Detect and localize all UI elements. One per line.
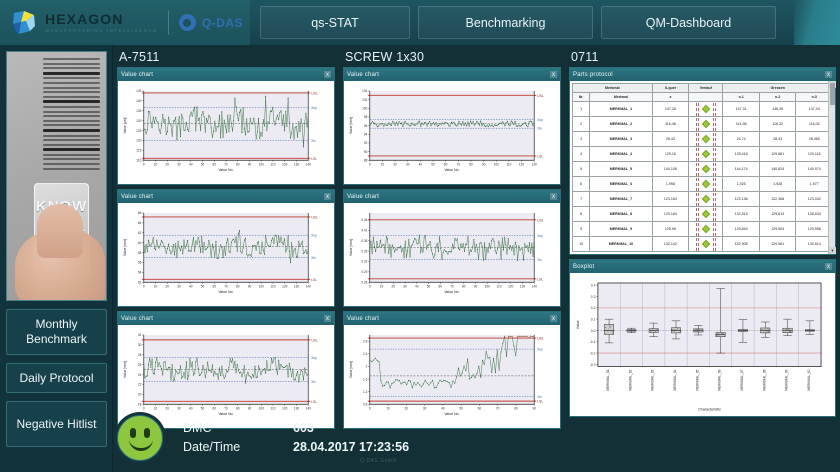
table-row[interactable]: 9MERKMAL_9129,96129,844129,904129,556 (573, 222, 833, 237)
smiley-face-icon (117, 415, 163, 461)
svg-text:0: 0 (369, 284, 371, 288)
svg-text:Value [mm]: Value [mm] (349, 117, 353, 134)
svg-text:0.29: 0.29 (361, 270, 367, 274)
panel-parts-protocol: Parts protocol x Merkmal X-quer Verlauf … (569, 67, 836, 255)
cell-no: 6 (573, 177, 590, 192)
column-screw: SCREW 1x30 Value chart x USLLSLXupXlo889… (339, 45, 565, 433)
svg-text:60: 60 (212, 162, 216, 166)
brand-area: HEXAGON MANUFACTURING INTELLIGENCE Q-DAS (0, 0, 250, 45)
hexagon-logo-icon (12, 10, 38, 36)
svg-text:Xup: Xup (537, 234, 543, 238)
svg-text:30: 30 (138, 343, 142, 347)
svg-text:-0.1: -0.1 (590, 340, 596, 344)
cell-n2: 129,581 (759, 237, 796, 252)
cell-no: 8 (573, 207, 590, 222)
svg-text:70: 70 (224, 162, 228, 166)
status-ok-icon (702, 195, 710, 203)
svg-text:0.3: 0.3 (591, 295, 596, 299)
cell-merkmal: MERKMAL_6 (590, 177, 652, 192)
smiley-eye-left (130, 428, 136, 438)
svg-text:-0.2: -0.2 (590, 351, 596, 355)
panel-title: Value chart (121, 316, 153, 322)
svg-text:MERKMAL_09: MERKMAL_09 (785, 369, 789, 390)
cell-n1: 24,74 (723, 132, 760, 147)
column-title-screw: SCREW 1x30 (339, 45, 565, 67)
brand-divider (168, 11, 169, 35)
svg-text:Xlo: Xlo (537, 127, 542, 131)
value-chart-screw-1[interactable]: USLLSLXupXlo8890929496981001021040102030… (346, 83, 558, 182)
svg-text:20: 20 (166, 284, 170, 288)
tab-qs-stat[interactable]: qs-STAT (260, 6, 410, 39)
cell-merkmal: MERKMAL_2 (590, 117, 652, 132)
panel-title: Value chart (347, 194, 379, 200)
svg-text:Xlo: Xlo (311, 256, 316, 260)
svg-text:54: 54 (138, 271, 142, 275)
panel-body: USLLSLXupXlo0.260.290.320.350.380.410.44… (344, 203, 560, 306)
cell-mean: 144,108 (652, 162, 689, 177)
svg-text:0.4: 0.4 (591, 284, 596, 288)
svg-text:MERKMAL_05: MERKMAL_05 (695, 369, 699, 390)
svg-text:40: 40 (189, 162, 193, 166)
dmc-label: DMC (183, 419, 293, 438)
cell-n2: 140,824 (759, 162, 796, 177)
sidebar-button-daily-protocol[interactable]: Daily Protocol (6, 363, 107, 393)
svg-text:110: 110 (270, 284, 275, 288)
svg-text:90: 90 (474, 284, 478, 288)
svg-text:50: 50 (431, 162, 435, 166)
cell-mean: 132,142 (652, 237, 689, 252)
svg-text:Xup: Xup (537, 348, 543, 352)
table-row[interactable]: 1MERKMAL_1147,26147,31146,35147,04 (573, 102, 833, 117)
svg-text:120: 120 (508, 284, 514, 288)
cell-mean: 1,998 (652, 177, 689, 192)
cell-merkmal: MERKMAL_5 (590, 162, 652, 177)
cell-mean: 28,43 (652, 132, 689, 147)
close-icon[interactable]: x (550, 193, 557, 200)
svg-text:125: 125 (136, 129, 142, 133)
svg-text:Xlo: Xlo (311, 380, 316, 384)
cell-verlauf (689, 102, 723, 117)
svg-text:88: 88 (364, 159, 368, 163)
svg-text:20: 20 (138, 393, 142, 397)
panel-title: Value chart (121, 194, 153, 200)
svg-text:60: 60 (444, 162, 448, 166)
brand-wordmark: HEXAGON MANUFACTURING INTELLIGENCE (45, 12, 158, 33)
col-n1: n-1 (723, 93, 760, 102)
svg-text:100: 100 (259, 284, 265, 288)
panel-body: USLLSLXupXlo1101151201251301351401450102… (118, 81, 334, 184)
svg-text:Xlo: Xlo (537, 258, 542, 262)
qdas-circle-icon (179, 14, 196, 31)
cell-verlauf (689, 207, 723, 222)
cell-n1: 1,925 (723, 177, 760, 192)
svg-text:0: 0 (143, 162, 145, 166)
table-sub-header-row: Nr. Merkmal x n-1 n-2 n-3 (573, 93, 833, 102)
svg-text:Value No.: Value No. (444, 290, 459, 294)
svg-text:96: 96 (364, 124, 368, 128)
smiley-mouth (129, 438, 153, 451)
svg-text:66: 66 (138, 211, 142, 215)
table-row[interactable]: 2MERKMAL_2116,48114,98116,32116,04 (573, 117, 833, 132)
svg-text:2: 2 (366, 365, 368, 369)
svg-text:80: 80 (236, 162, 240, 166)
svg-text:0.44: 0.44 (361, 218, 367, 222)
svg-text:102: 102 (362, 98, 368, 102)
group-header-verlauf: Verlauf (689, 84, 723, 93)
svg-text:MERKMAL_08: MERKMAL_08 (762, 369, 766, 390)
close-icon[interactable]: x (825, 263, 832, 270)
cell-n2: 122,368 (759, 192, 796, 207)
col-no: Nr. (573, 93, 590, 102)
svg-text:20: 20 (393, 162, 397, 166)
svg-text:130: 130 (532, 162, 538, 166)
group-header-xquer: X-quer (652, 84, 689, 93)
svg-text:120: 120 (282, 162, 288, 166)
svg-text:120: 120 (282, 284, 288, 288)
sidebar-button-negative-hitlist[interactable]: Negative Hitlist (6, 401, 107, 447)
table-head: Merkmal X-quer Verlauf Grenzen Nr. Merkm… (573, 84, 833, 102)
svg-text:Value No.: Value No. (218, 168, 233, 172)
svg-text:60: 60 (138, 241, 142, 245)
svg-text:MERKMAL_07: MERKMAL_07 (740, 369, 744, 390)
svg-text:32: 32 (138, 333, 142, 337)
status-bar: DMC 603 Date/Time 28.04.2017 17:23:56 (117, 410, 557, 466)
svg-text:40: 40 (419, 162, 423, 166)
svg-text:LSL: LSL (311, 278, 317, 282)
table-row[interactable]: 7MERKMAL_7123,184123,136122,368123,042 (573, 192, 833, 207)
cell-no: 1 (573, 102, 590, 117)
panel-value-chart-2: Value chart x USLLSLXupXlo52545658606264… (117, 189, 335, 307)
cell-n2: 28,43 (759, 132, 796, 147)
svg-text:USL: USL (311, 216, 318, 220)
status-ok-icon (702, 150, 710, 158)
svg-text:10: 10 (380, 284, 384, 288)
cell-mean: 147,26 (652, 102, 689, 117)
svg-text:Value [mm]: Value [mm] (349, 361, 353, 378)
cell-n1: 128,418 (723, 147, 760, 162)
panel-header: Value chart x (118, 312, 334, 325)
column-title-0711: 0711 (565, 45, 840, 67)
table-row[interactable]: 4MERKMAL_4129,16128,418129,881129,116 (573, 147, 833, 162)
cell-verlauf (689, 192, 723, 207)
svg-text:LSL: LSL (537, 155, 543, 159)
svg-text:MERKMAL_01: MERKMAL_01 (606, 369, 610, 390)
svg-text:140: 140 (306, 162, 312, 166)
svg-text:120: 120 (136, 139, 142, 143)
svg-text:50: 50 (427, 284, 431, 288)
status-text-block: DMC 603 Date/Time 28.04.2017 17:23:56 (183, 419, 409, 457)
svg-text:MERKMAL_03: MERKMAL_03 (651, 369, 655, 390)
cell-no: 3 (573, 132, 590, 147)
svg-text:2.8: 2.8 (363, 340, 368, 344)
svg-text:1.6: 1.6 (363, 377, 368, 381)
cell-mean: 123,184 (652, 192, 689, 207)
svg-text:22: 22 (138, 383, 142, 387)
svg-text:20: 20 (166, 162, 170, 166)
qdas-brand: Q-DAS (179, 14, 243, 31)
svg-text:140: 140 (532, 284, 538, 288)
panel-body: Merkmal X-quer Verlauf Grenzen Nr. Merkm… (570, 81, 835, 254)
svg-text:130: 130 (136, 119, 142, 123)
cell-merkmal: MERKMAL_9 (590, 222, 652, 237)
status-ok-icon (702, 240, 710, 248)
panel-value-chart-5: Value chart x USLLSLXupXlo0.260.290.320.… (343, 189, 561, 307)
cell-merkmal: MERKMAL_10 (590, 237, 652, 252)
svg-text:30: 30 (406, 162, 410, 166)
svg-text:1.2: 1.2 (363, 390, 368, 394)
cell-mean: 129,16 (652, 147, 689, 162)
cell-verlauf (689, 222, 723, 237)
col-verlauf (689, 93, 723, 102)
table-row[interactable]: 10MERKMAL_10132,142132,908129,581130,514 (573, 237, 833, 252)
group-header-merkmal: Merkmal (573, 84, 653, 93)
svg-text:10: 10 (154, 284, 158, 288)
svg-text:LSL: LSL (311, 400, 317, 404)
status-ok-icon (702, 210, 710, 218)
status-ok-icon (702, 135, 710, 143)
svg-text:50: 50 (201, 162, 205, 166)
svg-text:130: 130 (294, 284, 300, 288)
table-scrollbar[interactable]: ▲ ▼ (828, 81, 835, 254)
cell-verlauf (689, 147, 723, 162)
panel-value-chart-1: Value chart x USLLSLXupXlo11011512012513… (117, 67, 335, 185)
scrollbar-thumb[interactable] (830, 83, 835, 105)
panel-body: USLLSLXupXlo5254565860626466010203040506… (118, 203, 334, 306)
cell-no: 10 (573, 237, 590, 252)
svg-text:USL: USL (311, 91, 318, 95)
svg-text:80: 80 (462, 284, 466, 288)
svg-text:0.41: 0.41 (361, 229, 367, 233)
table-group-header-row: Merkmal X-quer Verlauf Grenzen (573, 84, 833, 93)
panel-header: Value chart x (344, 312, 560, 325)
cell-no: 5 (573, 162, 590, 177)
cell-n1: 132,908 (723, 237, 760, 252)
cell-verlauf (689, 162, 723, 177)
svg-text:90: 90 (248, 162, 252, 166)
svg-text:110: 110 (270, 162, 275, 166)
svg-text:52: 52 (138, 281, 142, 285)
svg-text:2.4: 2.4 (363, 352, 368, 356)
know-your-statistics-poster: KNOW YOUR STATISTICS (6, 51, 107, 301)
poster-text-lines (43, 58, 100, 172)
cell-verlauf (689, 177, 723, 192)
svg-text:140: 140 (136, 99, 142, 103)
cell-no: 4 (573, 147, 590, 162)
panel-body: -0.3-0.2-0.10.00.10.20.30.4MERKMAL_01MER… (570, 273, 835, 416)
svg-text:135: 135 (136, 109, 142, 113)
svg-text:90: 90 (364, 150, 368, 154)
panel-header: Value chart x (344, 190, 560, 203)
cell-n1: 114,98 (723, 117, 760, 132)
svg-text:10: 10 (154, 162, 158, 166)
svg-text:Xup: Xup (537, 118, 543, 122)
close-icon[interactable]: x (324, 193, 331, 200)
value-chart-screw-2[interactable]: USLLSLXupXlo0.260.290.320.350.380.410.44… (346, 205, 558, 304)
panel-header: Value chart x (344, 68, 560, 81)
app-header: HEXAGON MANUFACTURING INTELLIGENCE Q-DAS… (0, 0, 840, 45)
svg-text:0.0: 0.0 (591, 329, 596, 333)
svg-text:LSL: LSL (537, 400, 543, 404)
panel-value-chart-4: Value chart x USLLSLXupXlo88909294969810… (343, 67, 561, 185)
cell-n1: 123,136 (723, 192, 760, 207)
svg-text:100: 100 (485, 284, 491, 288)
svg-text:140: 140 (306, 284, 312, 288)
parts-protocol-table[interactable]: Merkmal X-quer Verlauf Grenzen Nr. Merkm… (572, 83, 833, 252)
tab-qm-dashboard[interactable]: QM-Dashboard (601, 6, 776, 39)
svg-text:LSL: LSL (311, 157, 317, 161)
svg-text:Xup: Xup (311, 106, 317, 110)
table-row[interactable]: 6MERKMAL_61,9981,9251,9281,977 (573, 177, 833, 192)
table-row[interactable]: 3MERKMAL_328,4324,7428,4328,465 (573, 132, 833, 147)
table-body: 1MERKMAL_1147,26147,31146,35147,042MERKM… (573, 102, 833, 252)
svg-text:USL: USL (537, 219, 544, 223)
svg-text:Value No.: Value No. (444, 168, 459, 172)
svg-text:LSL: LSL (537, 277, 543, 281)
svg-text:64: 64 (138, 221, 142, 225)
svg-text:0.8: 0.8 (363, 403, 368, 407)
svg-text:26: 26 (138, 363, 142, 367)
svg-text:USL: USL (537, 337, 544, 341)
svg-text:28: 28 (138, 353, 142, 357)
cell-verlauf (689, 117, 723, 132)
smiley-eye-right (144, 428, 150, 438)
svg-text:56: 56 (138, 261, 142, 265)
close-icon[interactable]: x (550, 315, 557, 322)
svg-text:MERKMAL_04: MERKMAL_04 (673, 369, 677, 390)
panel-title: Boxplot (573, 264, 594, 270)
svg-text:0: 0 (369, 162, 371, 166)
close-icon[interactable]: x (324, 71, 331, 78)
panel-boxplot: Boxplot x -0.3-0.2-0.10.00.10.20.30.4MER… (569, 259, 836, 417)
svg-text:20: 20 (392, 284, 396, 288)
svg-text:Xup: Xup (311, 234, 317, 238)
table-row[interactable]: 8MERKMAL_8129,184132,515129,614128,534 (573, 207, 833, 222)
svg-text:30: 30 (403, 284, 407, 288)
datetime-label: Date/Time (183, 438, 293, 457)
svg-text:98: 98 (364, 115, 368, 119)
panel-title: Value chart (121, 72, 153, 78)
scroll-down-icon[interactable]: ▼ (829, 247, 836, 254)
cell-n1: 129,844 (723, 222, 760, 237)
brand-tagline: MANUFACTURING INTELLIGENCE (45, 29, 158, 33)
col-merkmal: Merkmal (590, 93, 652, 102)
qdas-product-name: Q-DAS (202, 16, 243, 30)
svg-text:92: 92 (364, 141, 368, 145)
cell-merkmal: MERKMAL_1 (590, 102, 652, 117)
col-x: x (652, 93, 689, 102)
svg-text:62: 62 (138, 231, 142, 235)
svg-text:80: 80 (469, 162, 473, 166)
cell-no: 7 (573, 192, 590, 207)
cell-n1: 144,174 (723, 162, 760, 177)
cell-merkmal: MERKMAL_4 (590, 147, 652, 162)
panel-title: Value chart (347, 316, 379, 322)
svg-text:0.35: 0.35 (361, 249, 367, 253)
svg-text:120: 120 (519, 162, 525, 166)
cell-n2: 1,928 (759, 177, 796, 192)
panel-header: Boxplot x (570, 260, 835, 273)
status-row-datetime: Date/Time 28.04.2017 17:23:56 (183, 438, 409, 457)
value-chart-a7511-1[interactable]: USLLSLXupXlo1101151201251301351401450102… (120, 83, 332, 182)
svg-text:110: 110 (496, 284, 501, 288)
svg-text:70: 70 (457, 162, 461, 166)
svg-text:Value [mm]: Value [mm] (349, 239, 353, 256)
svg-text:Xup: Xup (311, 356, 317, 360)
dmc-value: 603 (293, 419, 314, 438)
column-a7511: A-7511 Value chart x USLLSLXupXlo1101151… (113, 45, 339, 433)
svg-text:Value No.: Value No. (218, 290, 233, 294)
status-row-dmc: DMC 603 (183, 419, 409, 438)
svg-text:58: 58 (138, 251, 142, 255)
svg-text:30: 30 (177, 162, 181, 166)
table-row[interactable]: 5MERKMAL_5144,108144,174140,824140,974 (573, 162, 833, 177)
cell-n2: 129,881 (759, 147, 796, 162)
svg-text:0.1: 0.1 (591, 318, 596, 322)
svg-text:100: 100 (362, 107, 368, 111)
cell-merkmal: MERKMAL_7 (590, 192, 652, 207)
cell-mean: 129,96 (652, 222, 689, 237)
svg-text:100: 100 (494, 162, 500, 166)
status-ok-icon (702, 180, 710, 188)
svg-text:Value [µm]: Value [µm] (123, 118, 127, 134)
main-tabs: qs-STAT Benchmarking QM-Dashboard (250, 6, 776, 39)
svg-text:Value: Value (576, 320, 580, 329)
header-accent-shape (794, 0, 840, 45)
close-icon[interactable]: x (550, 71, 557, 78)
panel-header: Parts protocol x (570, 68, 835, 81)
svg-text:Xlo: Xlo (537, 395, 542, 399)
svg-text:60: 60 (438, 284, 442, 288)
group-header-grenzen: Grenzen (723, 84, 833, 93)
cell-mean: 116,48 (652, 117, 689, 132)
cell-verlauf (689, 132, 723, 147)
svg-text:70: 70 (224, 284, 228, 288)
svg-text:USL: USL (311, 339, 318, 343)
cell-no: 2 (573, 117, 590, 132)
svg-text:40: 40 (415, 284, 419, 288)
svg-text:60: 60 (212, 284, 216, 288)
boxplot-chart[interactable]: -0.3-0.2-0.10.00.10.20.30.4MERKMAL_01MER… (572, 275, 833, 414)
value-chart-a7511-2[interactable]: USLLSLXupXlo5254565860626466010203040506… (120, 205, 332, 304)
svg-text:18: 18 (138, 403, 142, 407)
svg-text:90: 90 (248, 284, 252, 288)
panel-header: Value chart x (118, 190, 334, 203)
close-icon[interactable]: x (825, 71, 832, 78)
svg-text:110: 110 (136, 159, 141, 163)
tab-benchmarking[interactable]: Benchmarking (418, 6, 593, 39)
poster-hand (15, 230, 105, 301)
datetime-value: 28.04.2017 17:23:56 (293, 438, 409, 457)
close-icon[interactable]: x (324, 315, 331, 322)
svg-text:90: 90 (482, 162, 486, 166)
status-ok-icon (702, 105, 710, 113)
svg-text:115: 115 (136, 149, 141, 153)
panel-header: Value chart x (118, 68, 334, 81)
panel-title: Parts protocol (573, 72, 613, 78)
svg-text:Value [mm]: Value [mm] (123, 361, 127, 378)
svg-text:Value [mm]: Value [mm] (123, 239, 127, 256)
svg-text:Xlo: Xlo (311, 139, 316, 143)
cell-n2: 129,904 (759, 222, 796, 237)
column-0711: 0711 Parts protocol x Merkmal X-quer Ver… (565, 45, 840, 421)
brand-name: HEXAGON (45, 12, 158, 26)
panel-body: USLLSLXupXlo8890929496981001021040102030… (344, 81, 560, 184)
svg-text:130: 130 (520, 284, 526, 288)
cell-verlauf (689, 237, 723, 252)
sidebar: KNOW YOUR STATISTICS Monthly Benchmark D… (0, 45, 113, 472)
sidebar-button-monthly-benchmark[interactable]: Monthly Benchmark (6, 309, 107, 355)
svg-text:94: 94 (364, 133, 368, 137)
